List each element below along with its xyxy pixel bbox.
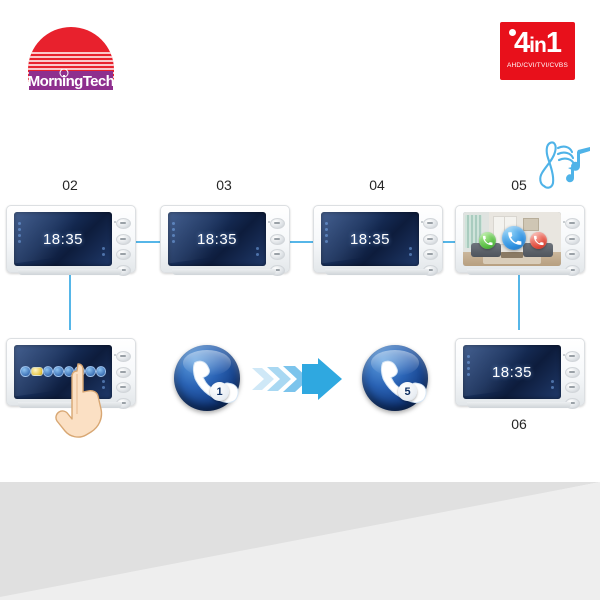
monitor-02-clock: 18:35 xyxy=(14,212,112,266)
monitor-06-label: 06 xyxy=(455,416,583,432)
monitor-03-clock: 18:35 xyxy=(168,212,266,266)
pointing-hand-icon xyxy=(52,362,114,440)
monitor-06[interactable]: 18:35 06 xyxy=(455,338,583,410)
touch-icon-2-selected[interactable] xyxy=(31,367,43,376)
monitor-button-menu[interactable] xyxy=(270,218,285,229)
monitor-01-leds xyxy=(114,343,130,348)
monitor-button-unlock[interactable] xyxy=(565,382,580,393)
room-picture-frame xyxy=(523,218,539,231)
room-call-icon-red xyxy=(530,232,547,249)
monitor-02-body: 18:35 xyxy=(6,205,136,273)
phone-handset-icon xyxy=(362,345,428,411)
call-badge-source-number: 1 xyxy=(210,382,229,401)
badge-subtitle: AHD/CVI/TVI/CVBS xyxy=(500,62,575,69)
monitor-button-menu[interactable] xyxy=(423,218,438,229)
monitor-button-talk[interactable] xyxy=(270,234,285,245)
monitor-04-stand xyxy=(325,269,429,275)
call-badge-source: 1 xyxy=(174,345,240,411)
monitor-04-clock: 18:35 xyxy=(321,212,419,266)
monitor-05[interactable]: 05 xyxy=(455,205,583,277)
monitor-button-unlock[interactable] xyxy=(423,249,438,260)
monitor-button-unlock[interactable] xyxy=(270,249,285,260)
room-camera-view xyxy=(463,212,561,266)
call-badge-target-number: 5 xyxy=(398,382,417,401)
monitor-05-leds xyxy=(563,210,579,215)
monitor-04-leds xyxy=(421,210,437,215)
monitor-06-screen: 18:35 xyxy=(463,345,561,399)
monitor-03-stand xyxy=(172,269,276,275)
monitor-button-menu[interactable] xyxy=(116,218,131,229)
monitor-button-talk[interactable] xyxy=(565,367,580,378)
monitor-02-label: 02 xyxy=(6,177,134,193)
call-badge-target: 5 xyxy=(362,345,428,411)
monitor-03-screen: 18:35 xyxy=(168,212,266,266)
monitor-02-screen: 18:35 xyxy=(14,212,112,266)
room-coffee-table xyxy=(501,252,523,258)
monitor-04-label: 04 xyxy=(313,177,441,193)
link-05-06 xyxy=(518,272,520,330)
room-call-icon-blue xyxy=(502,226,526,250)
monitor-button-unlock[interactable] xyxy=(565,249,580,260)
monitor-02-stand xyxy=(18,269,122,275)
monitor-06-body: 18:35 xyxy=(455,338,585,406)
badge-number-4: 4 xyxy=(514,27,529,59)
monitor-button-menu[interactable] xyxy=(565,218,580,229)
monitor-button-menu[interactable] xyxy=(565,351,580,362)
monitor-05-screen xyxy=(463,212,561,266)
monitor-06-stand xyxy=(467,402,571,408)
monitor-02-leds xyxy=(114,210,130,215)
4in1-badge: 4in1 AHD/CVI/TVI/CVBS xyxy=(500,22,575,80)
monitor-button-unlock[interactable] xyxy=(116,249,131,260)
monitor-06-clock: 18:35 xyxy=(463,345,561,399)
morningtech-logo: MorningTech xyxy=(24,18,119,100)
monitor-button-talk[interactable] xyxy=(565,234,580,245)
monitor-button-unlock[interactable] xyxy=(116,382,131,393)
monitor-03-leds xyxy=(268,210,284,215)
monitor-button-talk[interactable] xyxy=(423,234,438,245)
monitor-03[interactable]: 03 18:35 xyxy=(160,205,288,277)
music-notes-icon xyxy=(528,138,594,192)
monitor-button-talk[interactable] xyxy=(116,234,131,245)
svg-text:MorningTech: MorningTech xyxy=(28,73,115,90)
diagram-canvas: MorningTech 4in1 AHD/CVI/TVI/CVBS 02 18:… xyxy=(0,0,600,600)
monitor-03-label: 03 xyxy=(160,177,288,193)
monitor-04[interactable]: 04 18:35 xyxy=(313,205,441,277)
monitor-06-leds xyxy=(563,343,579,348)
badge-number-1: 1 xyxy=(546,27,561,59)
monitor-03-body: 18:35 xyxy=(160,205,290,273)
flow-arrow-icon xyxy=(250,358,360,400)
monitor-05-stand xyxy=(467,269,571,275)
monitor-02[interactable]: 02 18:35 xyxy=(6,205,134,277)
monitor-button-menu[interactable] xyxy=(116,351,131,362)
monitor-04-screen: 18:35 xyxy=(321,212,419,266)
room-call-icon-green xyxy=(479,232,496,249)
badge-word-in: in xyxy=(529,34,546,57)
monitor-button-talk[interactable] xyxy=(116,367,131,378)
monitor-04-body: 18:35 xyxy=(313,205,443,273)
badge-main-text: 4in1 xyxy=(500,28,575,61)
touch-icon-1[interactable] xyxy=(20,366,31,377)
monitor-05-body xyxy=(455,205,585,273)
link-02-01 xyxy=(69,272,71,330)
phone-handset-icon xyxy=(174,345,240,411)
